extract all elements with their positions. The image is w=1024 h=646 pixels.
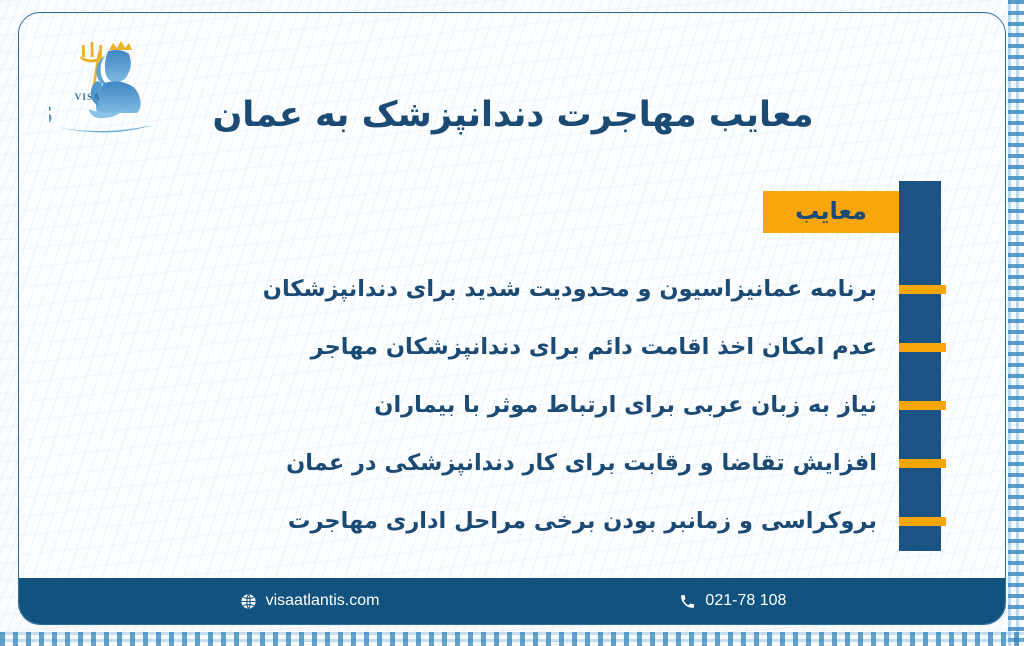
section-badge: معایب <box>763 191 899 233</box>
footer-phone[interactable]: 021-78 108 <box>679 592 786 610</box>
bullet-dash-icon <box>899 343 946 352</box>
list-item-label: بروکراسی و زمانبر بودن برخی مراحل اداری … <box>288 510 877 533</box>
list-item: عدم امکان اخذ اقامت دائم برای دندانپزشکا… <box>81 339 941 355</box>
list-item-label: عدم امکان اخذ اقامت دائم برای دندانپزشکا… <box>311 336 877 359</box>
bullet-dash-icon <box>899 401 946 410</box>
footer-website-label: visaatlantis.com <box>266 592 380 610</box>
list-item-label: نیاز به زبان عربی برای ارتباط موثر با بی… <box>374 394 877 417</box>
poster-background: VISA ATLANTIS معایب مهاجرت دندانپزشک به … <box>0 0 1024 646</box>
footer-website[interactable]: visaatlantis.com <box>240 592 380 610</box>
globe-icon <box>240 593 257 610</box>
disadvantages-list: برنامه عمانیزاسیون و محدودیت شدید برای د… <box>81 259 941 551</box>
footer-bar: 021-78 108 visaatlantis <box>19 578 1006 624</box>
list-item: بروکراسی و زمانبر بودن برخی مراحل اداری … <box>81 513 941 529</box>
page-title: معایب مهاجرت دندانپزشک به عمان <box>19 95 1006 135</box>
list-item: افزایش تقاضا و رقابت برای کار دندانپزشکی… <box>81 455 941 471</box>
list-item: نیاز به زبان عربی برای ارتباط موثر با بی… <box>81 397 941 413</box>
bottom-edge-pixel-pattern <box>0 632 1024 646</box>
bullet-dash-icon <box>899 285 946 294</box>
right-edge-pixel-pattern <box>1008 0 1024 646</box>
bullet-dash-icon <box>899 459 946 468</box>
phone-icon <box>679 593 696 610</box>
bullet-dash-icon <box>899 517 946 526</box>
list-item: برنامه عمانیزاسیون و محدودیت شدید برای د… <box>81 281 941 297</box>
content-card: VISA ATLANTIS معایب مهاجرت دندانپزشک به … <box>18 12 1006 625</box>
list-item-label: افزایش تقاضا و رقابت برای کار دندانپزشکی… <box>286 452 877 475</box>
list-item-label: برنامه عمانیزاسیون و محدودیت شدید برای د… <box>263 278 877 301</box>
footer-phone-label: 021-78 108 <box>705 592 786 610</box>
section-badge-label: معایب <box>795 199 867 226</box>
